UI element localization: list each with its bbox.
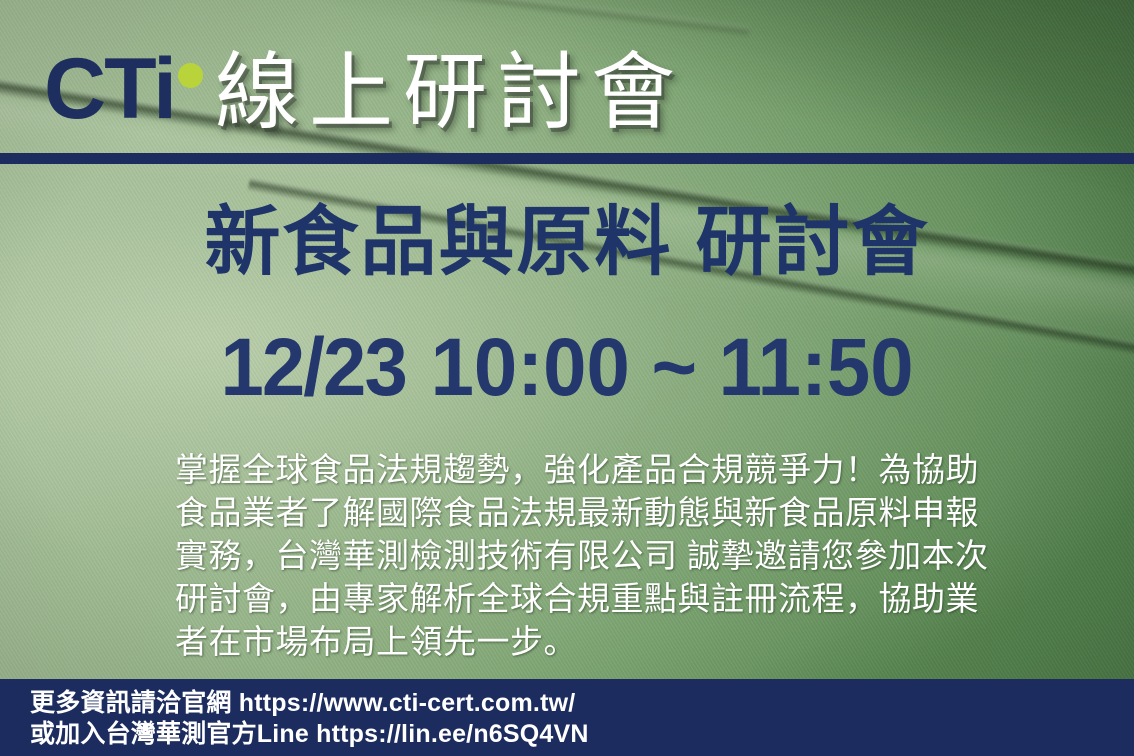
footer-website-line[interactable]: 更多資訊請洽官網 https://www.cti-cert.com.tw/ — [30, 688, 589, 719]
description-line: 者在市場布局上領先一步。 — [175, 620, 965, 663]
poster-subtitle: 新食品與原料 研討會 — [0, 195, 1134, 291]
webinar-poster: CTi 線上研討會 新食品與原料 研討會 12/2310:00 ~ 11:50 … — [0, 0, 1134, 756]
description-line: 實務，台灣華測檢測技術有限公司 誠摯邀請您參加本次 — [175, 534, 965, 577]
poster-description: 掌握全球食品法規趨勢，強化產品合規競爭力！為協助 食品業者了解國際食品法規最新動… — [175, 448, 965, 663]
event-datetime: 12/2310:00 ~ 11:50 — [28, 318, 1105, 418]
cti-logo: CTi — [44, 30, 209, 140]
cti-logo-wordmark: CTi — [44, 46, 175, 132]
brand-dot-icon — [178, 63, 203, 88]
event-date: 12/23 — [220, 322, 405, 413]
description-line: 掌握全球食品法規趨勢，強化產品合規競爭力！為協助 — [175, 448, 965, 491]
header-chinese-title: 線上研討會 — [215, 48, 685, 140]
description-line: 研討會，由專家解析全球合規重點與註冊流程，協助業 — [175, 577, 965, 620]
footer-contact-info: 更多資訊請洽官網 https://www.cti-cert.com.tw/ 或加… — [30, 688, 589, 750]
event-time: 10:00 ~ 11:50 — [431, 322, 914, 413]
poster-footer: 更多資訊請洽官網 https://www.cti-cert.com.tw/ 或加… — [0, 679, 1134, 756]
poster-header: CTi 線上研討會 — [0, 0, 1134, 156]
description-line: 食品業者了解國際食品法規最新動態與新食品原料申報 — [175, 491, 965, 534]
footer-line-link[interactable]: 或加入台灣華測官方Line https://lin.ee/n6SQ4VN — [30, 719, 589, 750]
header-divider-rule — [0, 153, 1134, 164]
